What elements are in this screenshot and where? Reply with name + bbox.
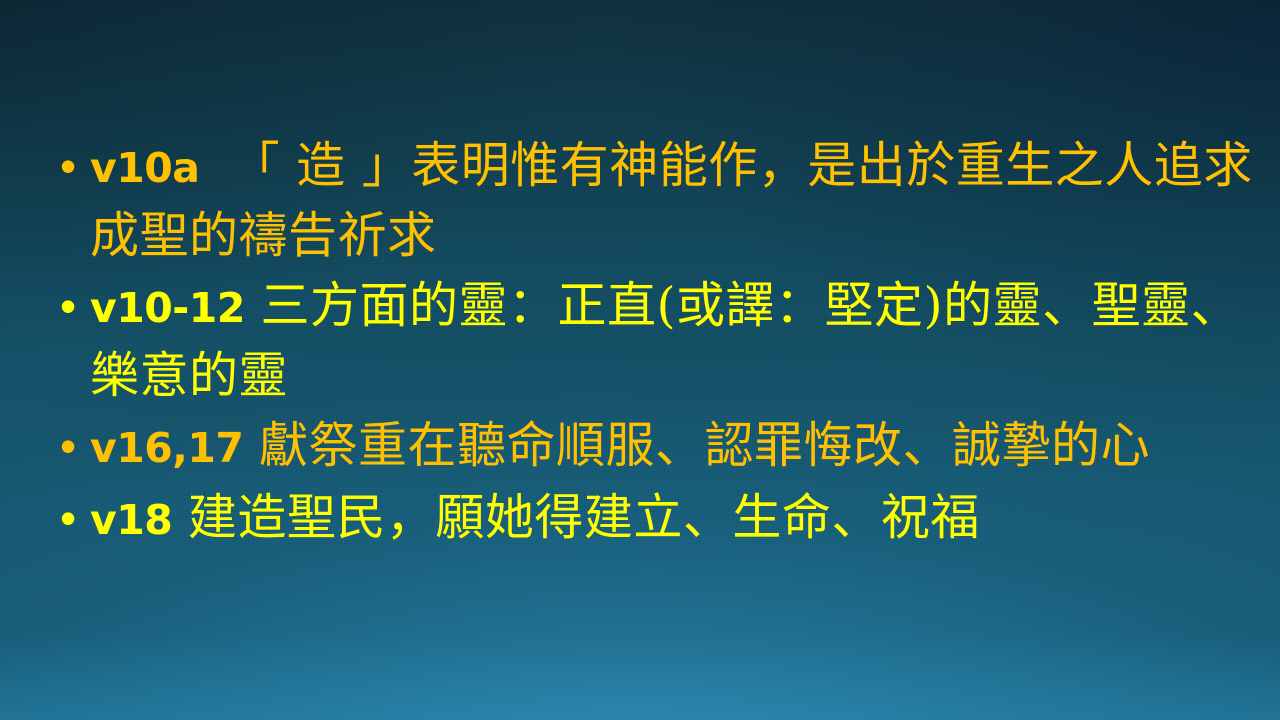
verse-reference-v10-12: v10-12 (90, 284, 245, 332)
verse-ref-spacer (243, 417, 259, 474)
bullet-point-icon: • (44, 412, 90, 480)
bullet-body-v10-12: 三方面的靈：正直(或譯：堅定)的靈、聖靈、樂意的靈 (90, 277, 1240, 404)
bullet-body-v16-17: 獻祭重在聽命順服、認罪悔改、誠摯的心 (259, 417, 1150, 474)
bullet-item-v10a: • v10a 「 造 」表明惟有神能作，是出於重生之人追求成聖的禱告祈求 (44, 132, 1260, 270)
bullet-body-v10a: 「 造 」表明惟有神能作，是出於重生之人追求成聖的禱告祈求 (90, 137, 1253, 264)
bullet-text-v16-17: v16,17 獻祭重在聽命順服、認罪悔改、誠摯的心 (90, 412, 1260, 482)
bullet-text-v18: v18 建造聖民，願她得建立、生命、祝福 (90, 484, 1260, 554)
bullet-point-icon: • (44, 272, 90, 340)
verse-ref-spacer (245, 277, 261, 334)
bullet-body-v18: 建造聖民，願她得建立、生命、祝福 (188, 489, 980, 546)
verse-reference-v10a: v10a (90, 144, 199, 192)
bullet-text-v10-12: v10-12 三方面的靈：正直(或譯：堅定)的靈、聖靈、樂意的靈 (90, 272, 1260, 410)
bullet-item-v16-17: • v16,17 獻祭重在聽命順服、認罪悔改、誠摯的心 (44, 412, 1260, 482)
bullet-item-v10-12: • v10-12 三方面的靈：正直(或譯：堅定)的靈、聖靈、樂意的靈 (44, 272, 1260, 410)
verse-ref-spacer (199, 137, 230, 194)
bullet-point-icon: • (44, 484, 90, 552)
verse-reference-v16-17: v16,17 (90, 424, 243, 472)
presentation-slide: • v10a 「 造 」表明惟有神能作，是出於重生之人追求成聖的禱告祈求 • v… (0, 0, 1280, 720)
bullet-point-icon: • (44, 132, 90, 200)
bullet-text-v10a: v10a 「 造 」表明惟有神能作，是出於重生之人追求成聖的禱告祈求 (90, 132, 1260, 270)
verse-ref-spacer (172, 489, 188, 546)
verse-reference-v18: v18 (90, 496, 172, 544)
slide-bullet-list: • v10a 「 造 」表明惟有神能作，是出於重生之人追求成聖的禱告祈求 • v… (44, 132, 1260, 556)
bullet-item-v18: • v18 建造聖民，願她得建立、生命、祝福 (44, 484, 1260, 554)
